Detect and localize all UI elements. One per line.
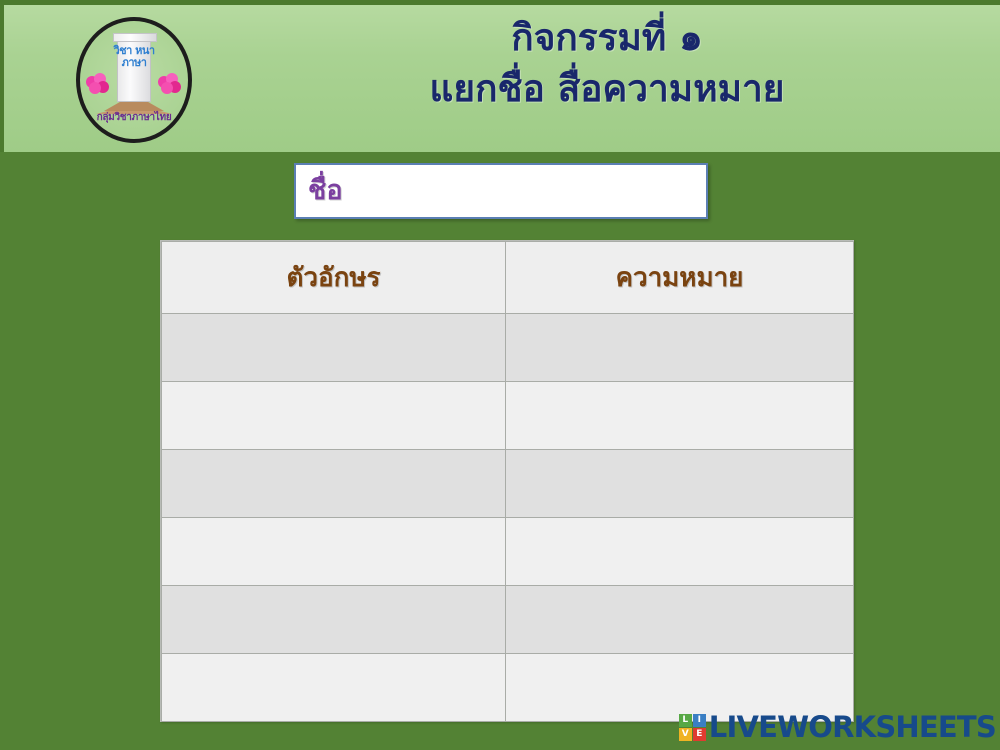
cell-letter[interactable] bbox=[162, 382, 506, 450]
cell-letter[interactable] bbox=[162, 586, 506, 654]
answer-table: ตัวอักษร ความหมาย bbox=[160, 240, 854, 722]
logo-circle: วิชา หนา ภาษา กลุ่มวิชาภาษาไทย bbox=[76, 17, 192, 143]
cell-letter[interactable] bbox=[162, 518, 506, 586]
cell-meaning[interactable] bbox=[506, 518, 854, 586]
logo-tile-e: E bbox=[693, 728, 706, 741]
logo-pillar-text: วิชา หนา ภาษา bbox=[112, 45, 156, 91]
cell-meaning[interactable] bbox=[506, 586, 854, 654]
worksheet-header: วิชา หนา ภาษา กลุ่มวิชาภาษาไทย กิจกรรมที… bbox=[0, 0, 1000, 152]
liveworksheets-wordmark: LIVEWORKSHEETS bbox=[709, 710, 996, 744]
flower-left-icon bbox=[86, 73, 110, 93]
table-row bbox=[162, 314, 854, 382]
table-body bbox=[162, 314, 854, 722]
liveworksheets-watermark: L I V E LIVEWORKSHEETS bbox=[679, 710, 996, 744]
table-row bbox=[162, 518, 854, 586]
school-logo-icon: วิชา หนา ภาษา กลุ่มวิชาภาษาไทย bbox=[66, 11, 198, 151]
worksheet-page: วิชา หนา ภาษา กลุ่มวิชาภาษาไทย กิจกรรมที… bbox=[0, 0, 1000, 750]
cell-meaning[interactable] bbox=[506, 450, 854, 518]
logo-tile-v: V bbox=[679, 728, 692, 741]
logo-tile-l: L bbox=[679, 714, 692, 727]
table-row bbox=[162, 450, 854, 518]
page-title-line-1: กิจกรรมที่ ๑ bbox=[234, 17, 980, 58]
column-header-letter: ตัวอักษร bbox=[162, 242, 506, 314]
cell-meaning[interactable] bbox=[506, 314, 854, 382]
table-row bbox=[162, 382, 854, 450]
logo-caption: กลุ่มวิชาภาษาไทย bbox=[80, 110, 188, 125]
liveworksheets-logo-icon: L I V E bbox=[679, 714, 706, 741]
table-header-row: ตัวอักษร ความหมาย bbox=[162, 242, 854, 314]
logo-tile-i: I bbox=[693, 714, 706, 727]
flower-right-icon bbox=[158, 73, 182, 93]
name-input-label: ชื่อ bbox=[308, 168, 343, 211]
name-input[interactable]: ชื่อ bbox=[294, 163, 708, 219]
cell-letter[interactable] bbox=[162, 654, 506, 722]
cell-letter[interactable] bbox=[162, 450, 506, 518]
page-title: กิจกรรมที่ ๑ แยกชื่อ สื่อความหมาย bbox=[234, 17, 980, 110]
table-row bbox=[162, 586, 854, 654]
cell-meaning[interactable] bbox=[506, 382, 854, 450]
page-title-line-2: แยกชื่อ สื่อความหมาย bbox=[234, 68, 980, 109]
column-header-meaning: ความหมาย bbox=[506, 242, 854, 314]
cell-letter[interactable] bbox=[162, 314, 506, 382]
